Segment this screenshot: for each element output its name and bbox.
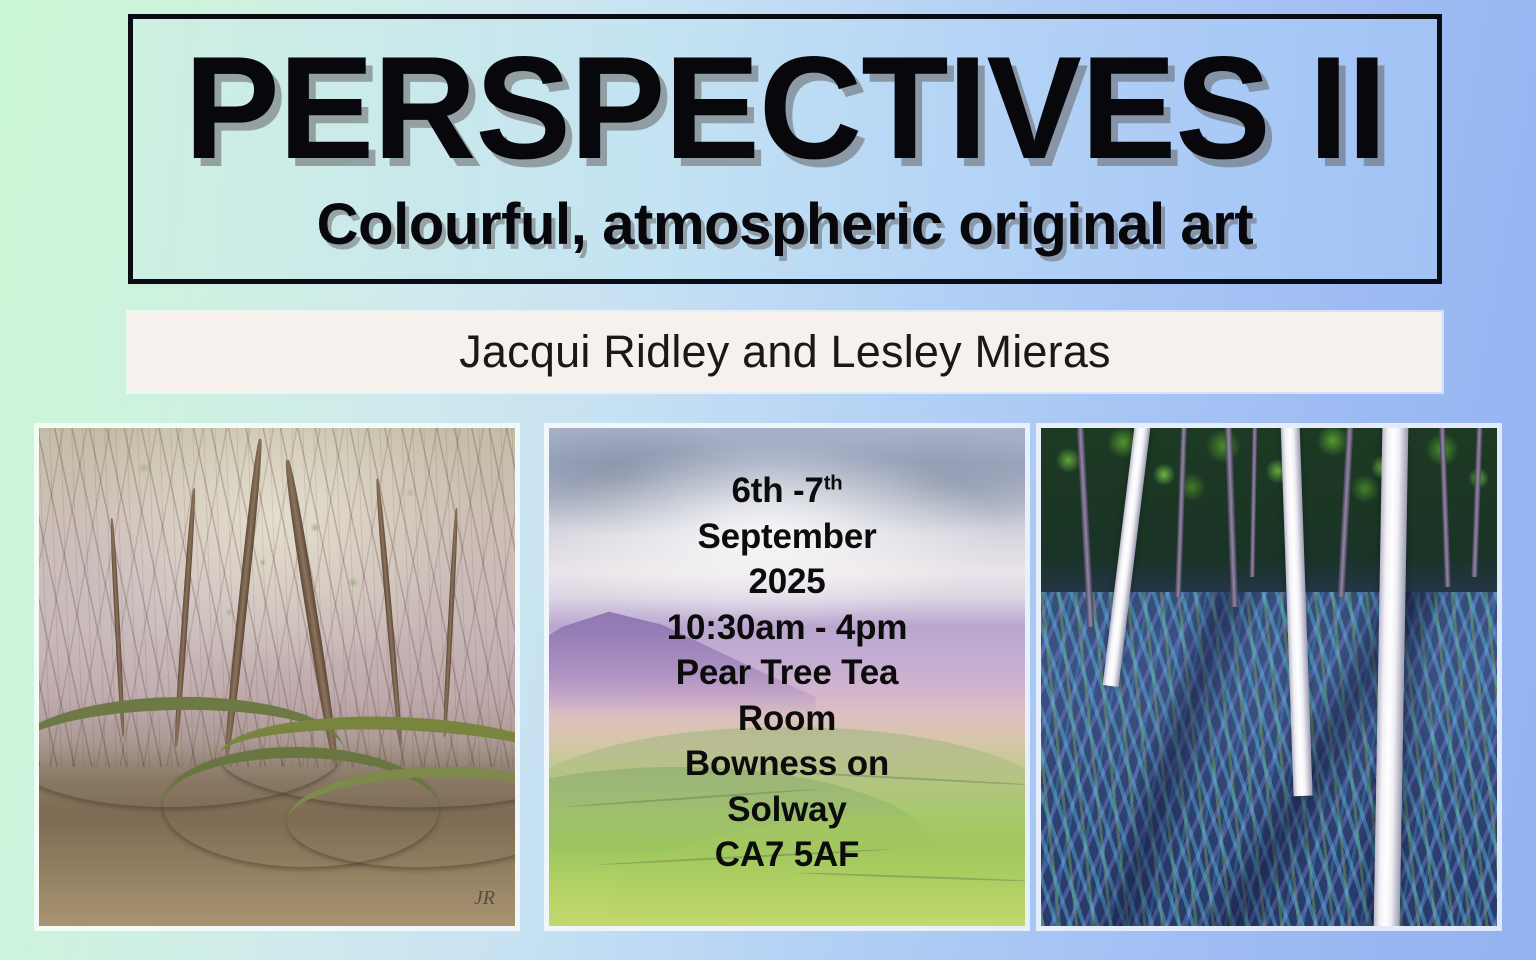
artist-names: Jacqui Ridley and Lesley Mieras <box>459 326 1111 378</box>
event-details: 6th -7th September 2025 10:30am - 4pm Pe… <box>549 428 1025 926</box>
event-line-dates: 6th -7th <box>732 468 843 514</box>
bluebell-birch-wood-painting <box>1041 428 1497 926</box>
artwork-panel-right <box>1036 423 1502 931</box>
event-line-postcode: CA7 5AF <box>715 832 859 878</box>
tree-trunk <box>222 438 264 756</box>
mossy-branch <box>218 711 520 813</box>
event-line-venue-2: Room <box>738 696 836 742</box>
tree-trunk <box>281 459 340 766</box>
artwork-panel-left: JR <box>34 423 520 931</box>
event-line-town-1: Bowness on <box>685 741 889 787</box>
event-line-times: 10:30am - 4pm <box>667 605 908 651</box>
page-subtitle: Colourful, atmospheric original art <box>317 195 1254 256</box>
tree-canopy <box>1041 428 1497 607</box>
ordinal-suffix: th <box>824 472 843 494</box>
mossy-branch <box>34 694 345 809</box>
tree-trunk <box>173 488 197 747</box>
exhibition-poster: PERSPECTIVES II Colourful, atmospheric o… <box>0 0 1536 960</box>
tree-trunk <box>109 518 125 737</box>
event-line-year: 2025 <box>748 559 825 605</box>
mossy-branch <box>162 744 440 868</box>
event-line-venue-1: Pear Tree Tea <box>676 650 898 696</box>
event-line-town-2: Solway <box>727 787 846 833</box>
artwork-panel-center: 6th -7th September 2025 10:30am - 4pm Pe… <box>544 423 1030 931</box>
event-line-month: September <box>697 514 876 560</box>
page-title: PERSPECTIVES II <box>184 33 1386 183</box>
artist-names-band: Jacqui Ridley and Lesley Mieras <box>128 312 1442 392</box>
tree-trunk <box>442 508 459 737</box>
mossy-branch <box>285 762 520 872</box>
artist-signature: JR <box>474 887 495 910</box>
title-box: PERSPECTIVES II Colourful, atmospheric o… <box>128 14 1442 284</box>
misty-woodland-painting: JR <box>39 428 515 926</box>
tree-trunk <box>375 478 404 746</box>
